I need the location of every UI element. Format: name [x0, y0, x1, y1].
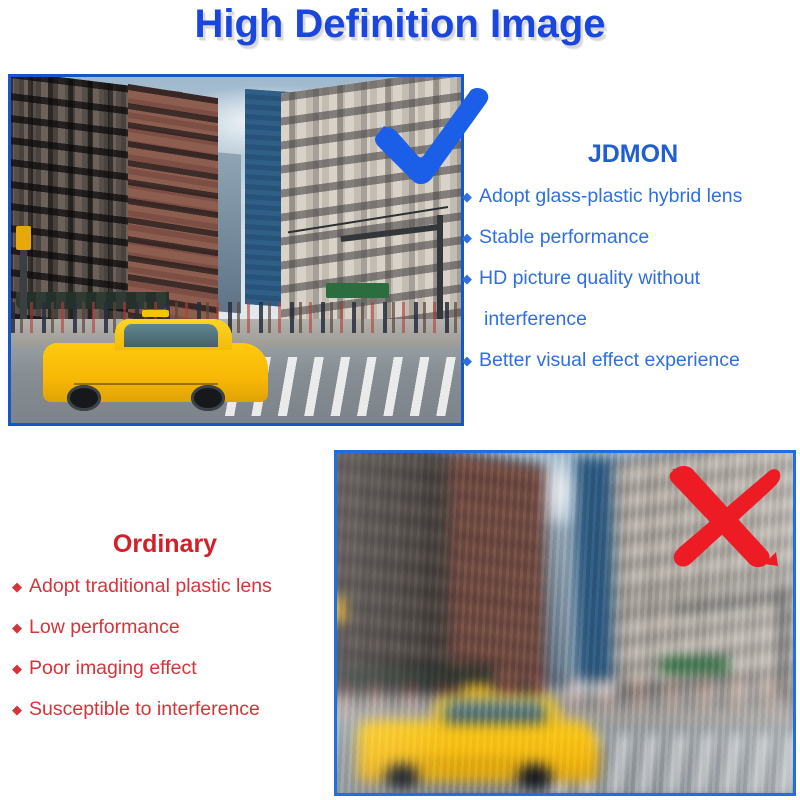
- diamond-bullet-icon: ◆: [12, 648, 22, 689]
- diamond-bullet-icon: ◆: [12, 566, 22, 607]
- list-item: ◆ Stable performance: [462, 217, 800, 258]
- list-item: ◆ Poor imaging effect: [12, 648, 342, 689]
- taxi-rear-wheel: [191, 385, 225, 411]
- diamond-bullet-icon: ◆: [462, 217, 472, 258]
- list-item-label: Adopt traditional plastic lens: [29, 566, 272, 607]
- list-item-continuation: interference: [462, 299, 800, 340]
- product-comparison-page: High Definition Image: [0, 0, 800, 800]
- diamond-bullet-icon: ◆: [12, 607, 22, 648]
- list-item-label: interference: [484, 299, 587, 340]
- signal-mast: [437, 215, 443, 319]
- page-title: High Definition Image: [0, 2, 800, 47]
- list-item-label: HD picture quality without: [479, 258, 700, 299]
- list-item-label: Susceptible to interference: [29, 689, 260, 730]
- green-scaffold: [326, 283, 389, 299]
- ordinary-feature-list: ◆ Adopt traditional plastic lens ◆ Low p…: [12, 566, 342, 730]
- taxi-rooflight: [142, 310, 169, 318]
- list-item-label: Better visual effect experience: [479, 340, 740, 381]
- red-cross-icon: [664, 464, 782, 568]
- jdmon-feature-list: ◆ Adopt glass-plastic hybrid lens ◆ Stab…: [462, 176, 800, 381]
- list-item: ◆ HD picture quality without: [462, 258, 800, 299]
- taxi-stripe: [74, 383, 218, 385]
- jdmon-heading: JDMON: [468, 140, 798, 169]
- list-item-label: Low performance: [29, 607, 180, 648]
- taxi-window: [124, 324, 219, 346]
- ordinary-heading: Ordinary: [0, 530, 330, 559]
- list-item: ◆ Better visual effect experience: [462, 340, 800, 381]
- diamond-bullet-icon: ◆: [462, 340, 472, 381]
- list-item-label: Stable performance: [479, 217, 649, 258]
- blue-check-icon: [372, 86, 492, 190]
- list-item-label: Adopt glass-plastic hybrid lens: [479, 176, 742, 217]
- list-item-label: Poor imaging effect: [29, 648, 197, 689]
- street-pole: [20, 243, 27, 319]
- list-item: ◆ Susceptible to interference: [12, 689, 342, 730]
- diamond-bullet-icon: ◆: [462, 258, 472, 299]
- taxi-front-wheel: [67, 385, 101, 411]
- diamond-bullet-icon: ◆: [462, 176, 472, 217]
- pedestrians: [11, 302, 461, 333]
- diamond-bullet-icon: ◆: [12, 689, 22, 730]
- list-item: ◆ Adopt glass-plastic hybrid lens: [462, 176, 800, 217]
- list-item: ◆ Adopt traditional plastic lens: [12, 566, 342, 607]
- traffic-light: [16, 226, 30, 250]
- list-item: ◆ Low performance: [12, 607, 342, 648]
